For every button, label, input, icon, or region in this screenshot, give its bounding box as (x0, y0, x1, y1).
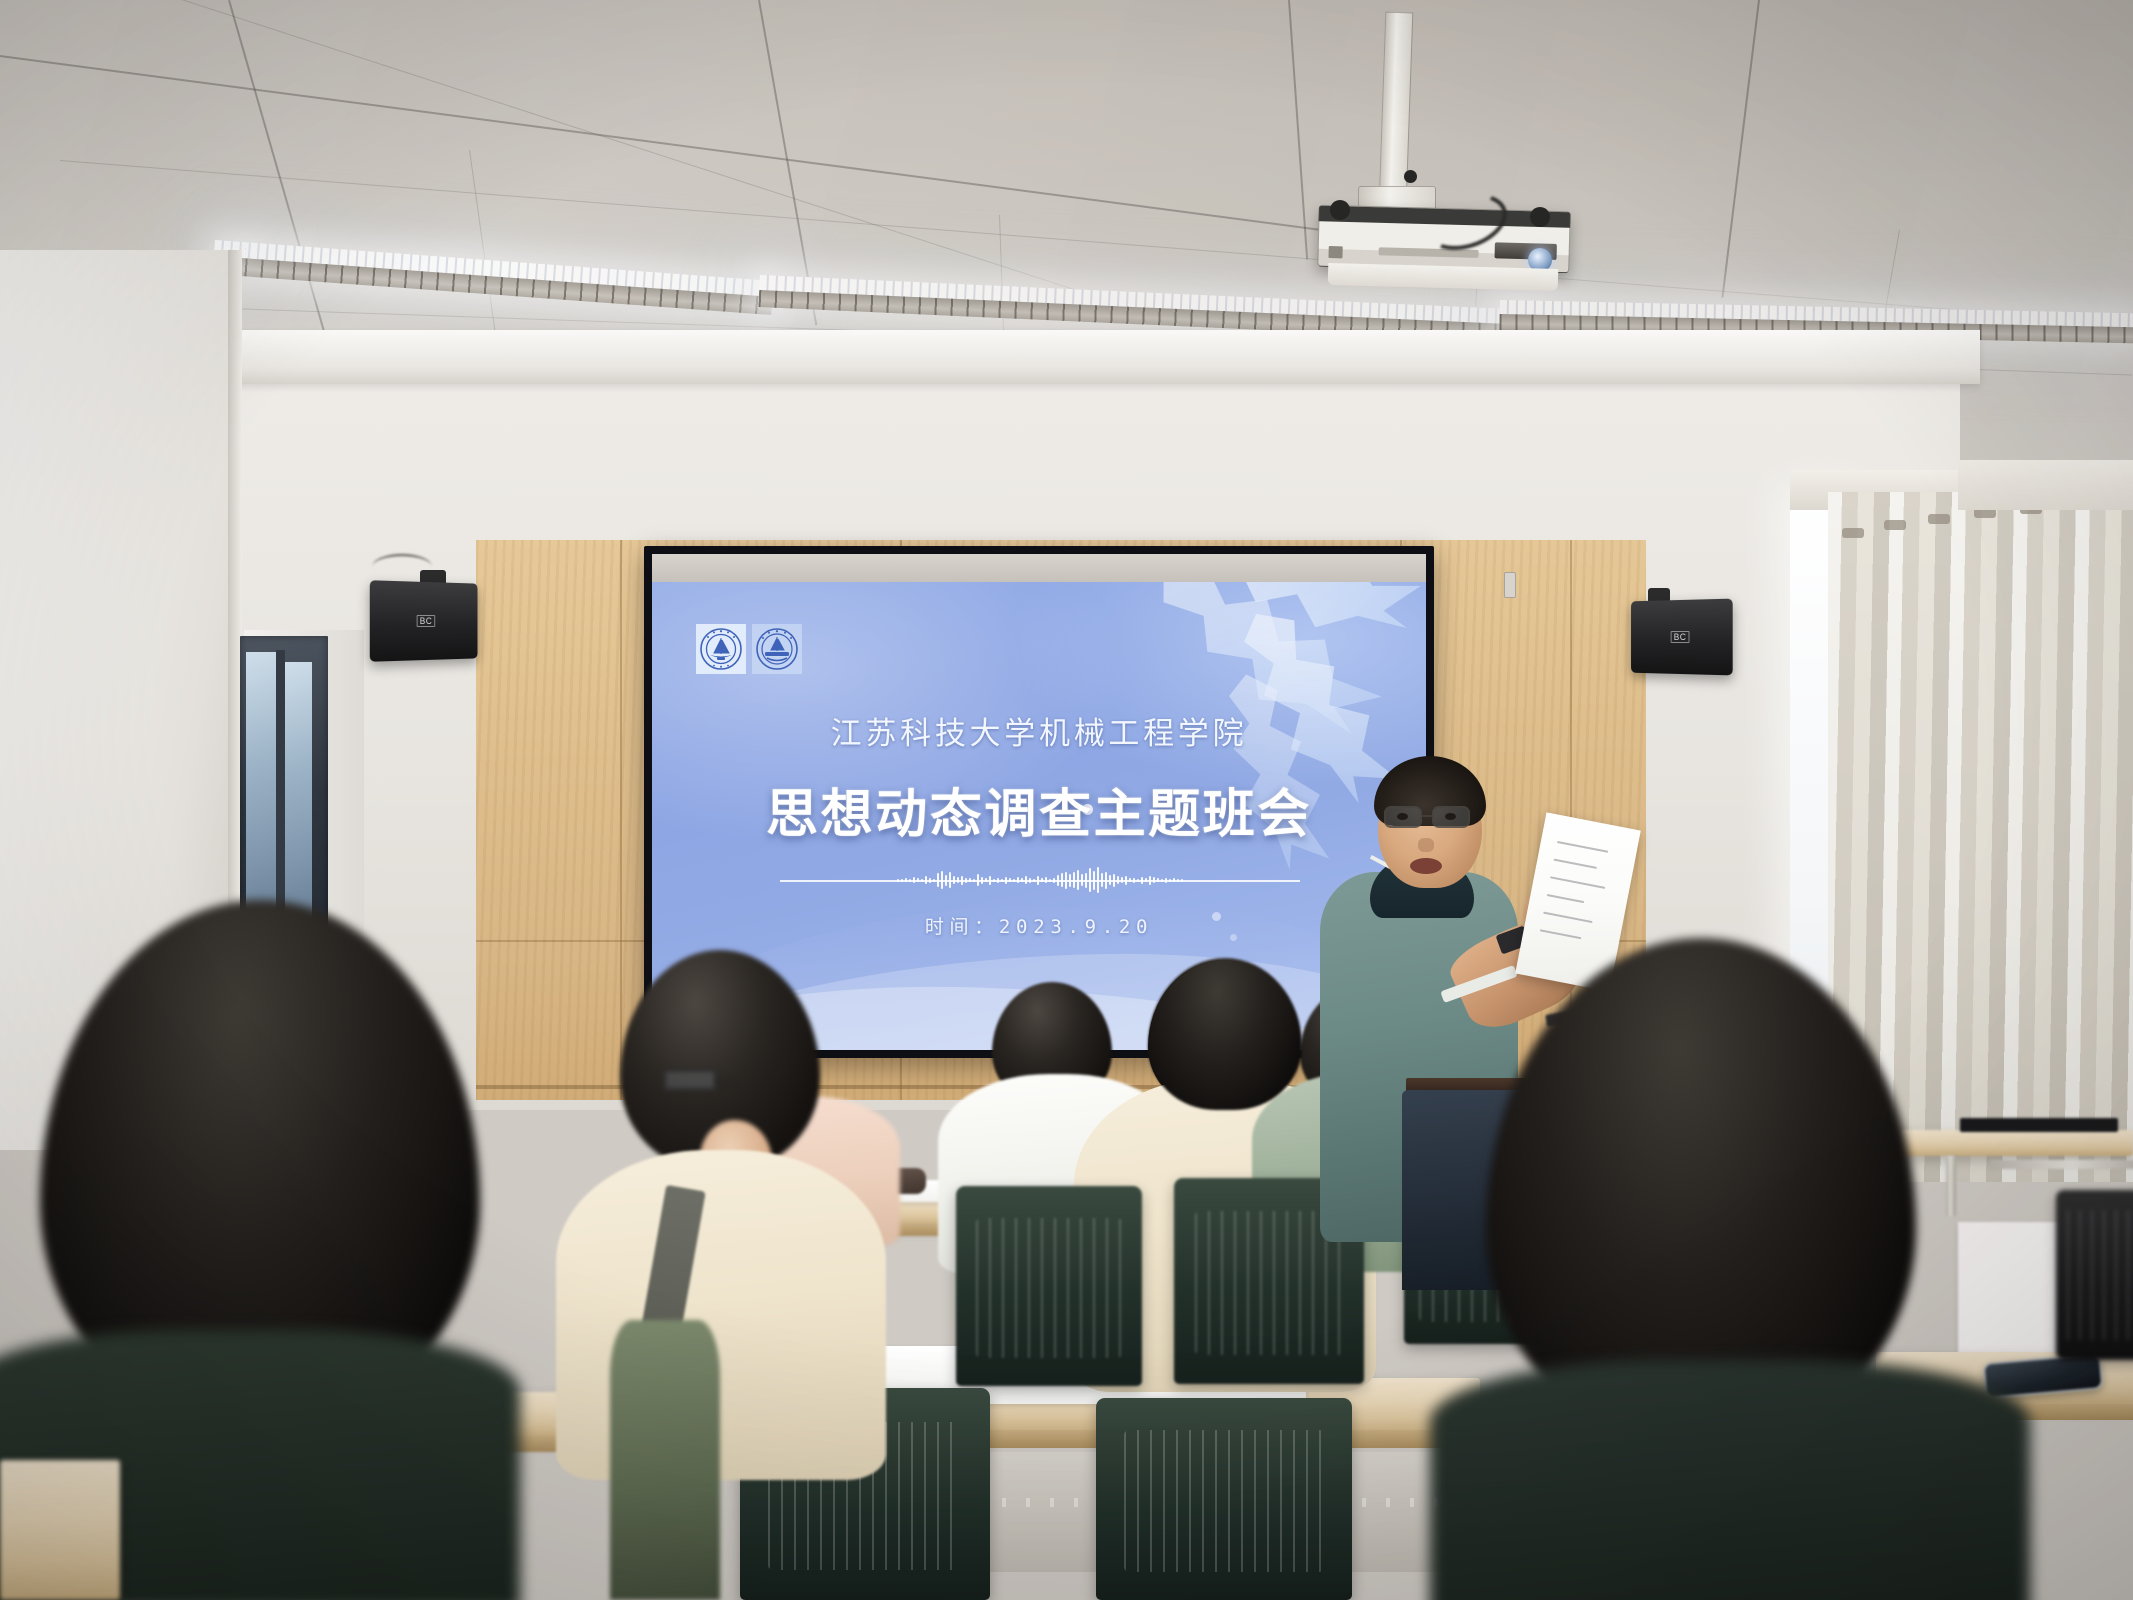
slide-organization: 江苏科技大学机械工程学院 (652, 708, 1426, 753)
ceiling-soffit (150, 330, 1980, 384)
mesh-back-chair (956, 1186, 1142, 1386)
student-left-glasses-bridge (716, 1080, 734, 1084)
mesh-back-chair (1096, 1398, 1352, 1600)
slide-title: 思想动态调查主题班会 (652, 772, 1426, 847)
presenter-nose (1418, 838, 1434, 852)
presenter-eye (1445, 813, 1456, 820)
speaker-brand-label: BC (417, 615, 435, 627)
presenter-eye (1397, 813, 1408, 820)
slide-date: 时间：2023.9.20 (652, 912, 1426, 939)
classroom-photo: 江苏科技大学机械工程学院 思想动态调查主题班会 (0, 0, 2133, 1600)
just-school-emblem-icon (752, 624, 802, 674)
desk-rail (1990, 1160, 2133, 1169)
projector-foot (1330, 200, 1350, 220)
backpack (610, 1320, 720, 1600)
screen-top-bar (652, 554, 1426, 582)
student-front-right-shoulders (1430, 1360, 2030, 1600)
wall-speaker-right: BC (1631, 599, 1733, 676)
student-left-glasses (556, 1150, 886, 1480)
projector-mount-bolt (1404, 170, 1417, 183)
projector-foot (1530, 207, 1550, 227)
wood-panel-seam (620, 540, 622, 1100)
wall-speaker-left: BC (370, 580, 478, 662)
mesh-back-chair (2056, 1190, 2133, 1360)
audio-waveform-decoration (780, 866, 1300, 894)
student-left-glasses-icon (662, 1068, 718, 1092)
slide-logo-row (696, 624, 802, 674)
curtain-valance (1958, 460, 2133, 510)
speaker-brand-label: BC (1671, 631, 1689, 643)
wall-sensor (1504, 572, 1516, 598)
desk-foreground-left (0, 1460, 120, 1600)
item-on-desk (1960, 1118, 2118, 1132)
presenter-glasses-bridge (1421, 815, 1433, 817)
just-university-emblem-icon (696, 624, 746, 674)
desk-right-far (1900, 1130, 2133, 1156)
presenter-mouth (1410, 858, 1442, 874)
desk-leg (1946, 1156, 1956, 1216)
